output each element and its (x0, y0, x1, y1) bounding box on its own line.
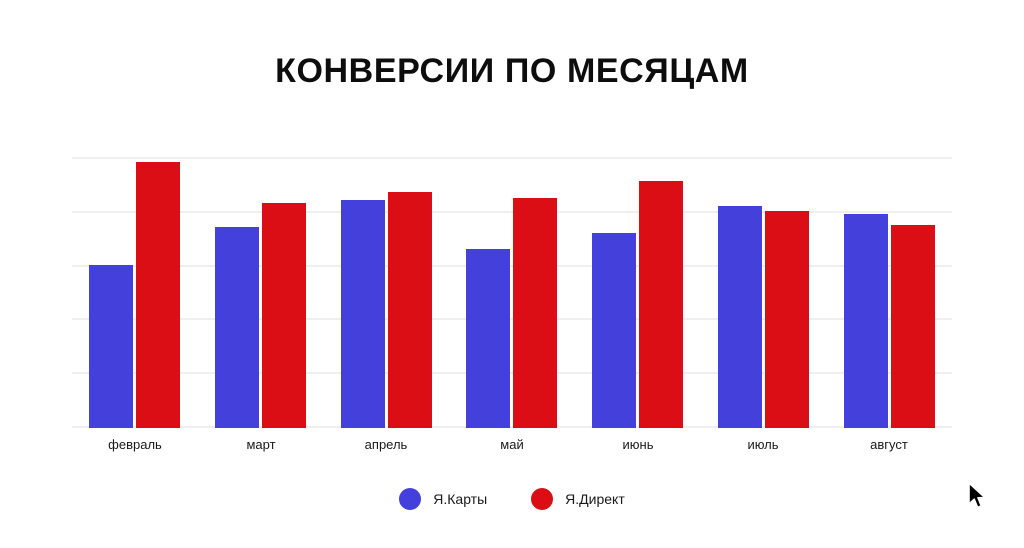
legend-item[interactable]: Я.Директ (531, 488, 625, 510)
bar-group (89, 157, 180, 428)
bar[interactable] (89, 265, 133, 428)
bar[interactable] (262, 203, 306, 428)
chart-page: КОНВЕРСИИ ПО МЕСЯЦАМ февральмартапрельма… (0, 0, 1024, 548)
bars-layer (72, 157, 952, 428)
bar[interactable] (891, 225, 935, 428)
page-title: КОНВЕРСИИ ПО МЕСЯЦАМ (0, 52, 1024, 91)
bar[interactable] (639, 181, 683, 428)
bar[interactable] (513, 198, 557, 428)
bar[interactable] (844, 214, 888, 428)
bar[interactable] (136, 162, 180, 428)
x-tick-label: февраль (75, 437, 195, 452)
bar-group (592, 157, 683, 428)
legend-item[interactable]: Я.Карты (399, 488, 487, 510)
bar-group (215, 157, 306, 428)
legend-label: Я.Директ (565, 491, 625, 507)
x-tick-label: апрель (326, 437, 446, 452)
x-tick-label: июль (703, 437, 823, 452)
legend-label: Я.Карты (433, 491, 487, 507)
bar[interactable] (718, 206, 762, 428)
bar-group (718, 157, 809, 428)
bar[interactable] (388, 192, 432, 428)
bar-group (341, 157, 432, 428)
bar-group (844, 157, 935, 428)
x-tick-label: июнь (578, 437, 698, 452)
plot-area (72, 157, 952, 428)
legend-circle-marker-icon (399, 488, 421, 510)
bar-group (466, 157, 557, 428)
chart-legend: Я.КартыЯ.Директ (0, 488, 1024, 510)
bar[interactable] (765, 211, 809, 428)
bar[interactable] (341, 200, 385, 428)
bar[interactable] (215, 227, 259, 428)
x-tick-label: март (201, 437, 321, 452)
bar[interactable] (592, 233, 636, 428)
x-axis-labels: февральмартапрельмайиюньиюльавгуст (72, 437, 952, 457)
x-tick-label: август (829, 437, 949, 452)
x-tick-label: май (452, 437, 572, 452)
bar[interactable] (466, 249, 510, 428)
legend-circle-marker-icon (531, 488, 553, 510)
